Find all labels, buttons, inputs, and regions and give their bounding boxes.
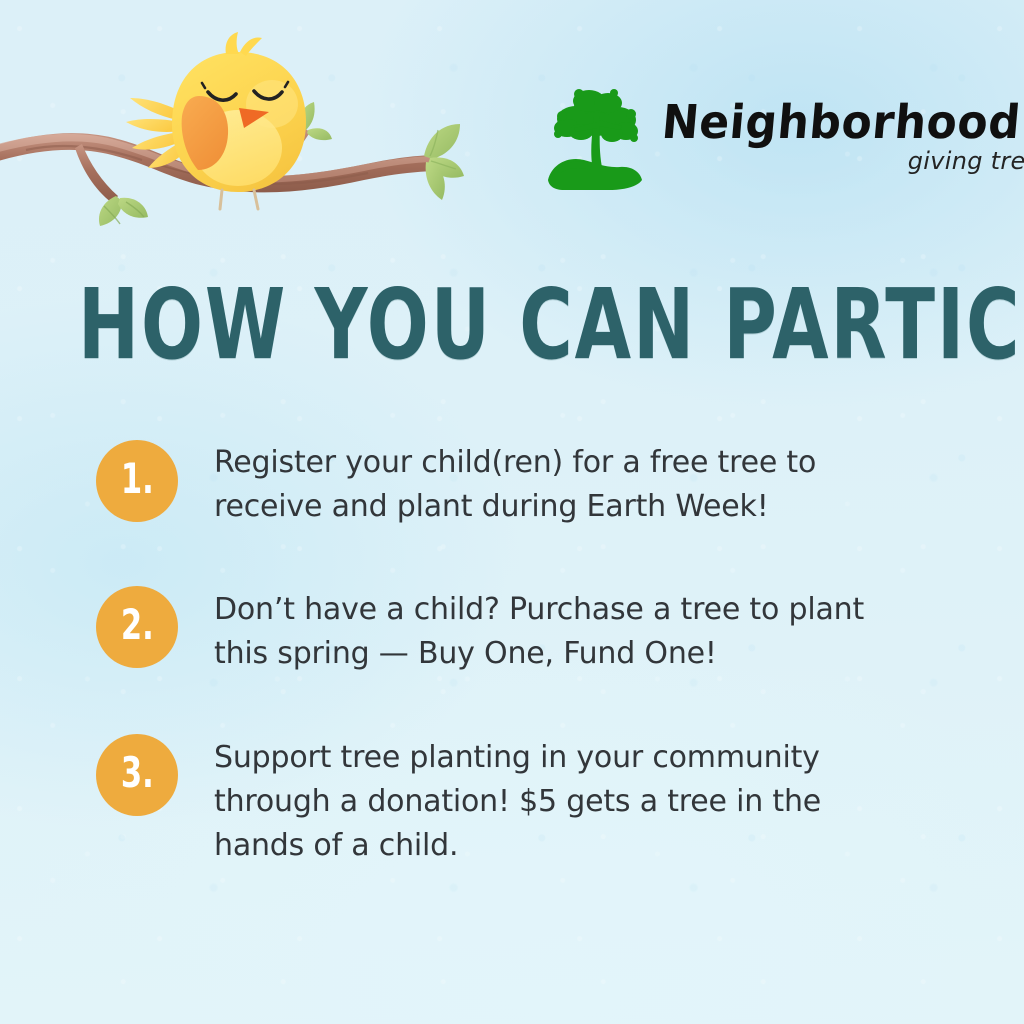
logo-wordmark: Neighborhood Forest [660,99,1024,147]
step-number-badge: 1. [96,440,178,522]
step-description: Don’t have a child? Purchase a tree to p… [214,586,914,676]
step-description: Support tree planting in your community … [214,734,914,868]
list-item: 2. Don’t have a child? Purchase a tree t… [96,586,956,676]
page-title: HOW YOU CAN PARTICIPATE: [78,276,923,373]
step-number-label: 2. [121,605,154,649]
poster-canvas: Neighborhood Forest giving trees to chil… [0,0,1024,1024]
step-number-badge: 3. [96,734,178,816]
branch-leaf-cluster [424,124,464,200]
step-number-badge: 2. [96,586,178,668]
logo-tagline: giving trees to children [662,148,1024,176]
list-item: 1. Register your child(ren) for a free t… [96,440,956,529]
step-number-label: 3. [121,753,154,797]
tree-in-hand-icon [534,76,652,194]
step-description: Register your child(ren) for a free tree… [214,440,914,529]
logo-text-block: Neighborhood Forest giving trees to chil… [662,94,1024,175]
brand-logo: Neighborhood Forest giving trees to chil… [534,74,986,196]
bird-leg-right [254,190,258,209]
bird-leg-left [220,190,222,209]
branch-illustration [0,24,466,234]
list-item: 3. Support tree planting in your communi… [96,734,956,868]
participation-steps-list: 1. Register your child(ren) for a free t… [96,440,956,868]
step-number-label: 1. [121,459,154,503]
